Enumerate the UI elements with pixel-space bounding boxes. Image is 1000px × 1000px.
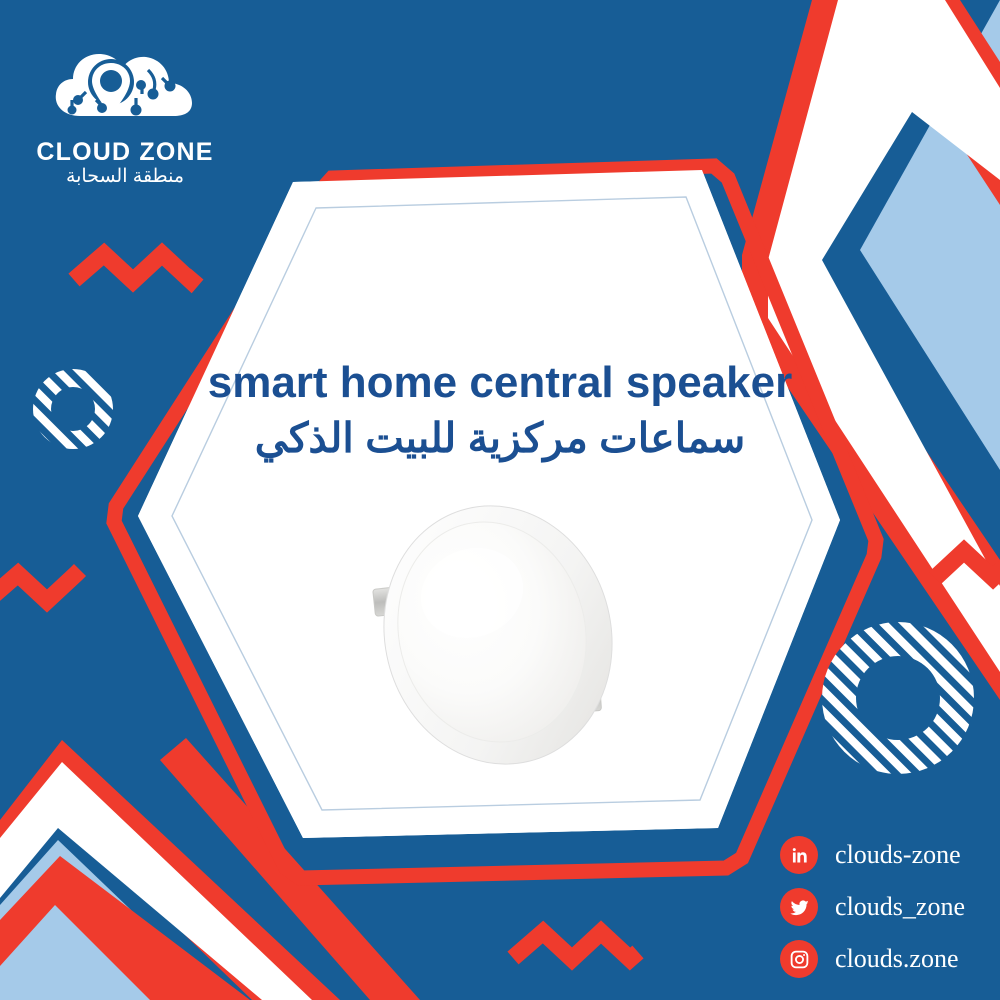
logo-arabic-subtitle: منطقة السحابة	[30, 166, 220, 188]
headline-english: smart home central speaker	[150, 358, 850, 407]
twitter-handle: clouds_zone	[835, 894, 965, 920]
instagram-icon[interactable]	[780, 940, 818, 978]
product-image	[368, 495, 638, 775]
social-row-twitter[interactable]: clouds_zone	[780, 888, 965, 926]
twitter-icon[interactable]	[780, 888, 818, 926]
linkedin-handle: clouds-zone	[835, 842, 961, 868]
social-links: clouds-zone clouds_zone clouds.zone	[780, 836, 965, 978]
brand-logo: CLOUD ZONE منطقة السحابة	[30, 38, 220, 188]
social-row-linkedin[interactable]: clouds-zone	[780, 836, 965, 874]
social-row-instagram[interactable]: clouds.zone	[780, 940, 965, 978]
linkedin-icon[interactable]	[780, 836, 818, 874]
round-led-panel-light-icon	[368, 495, 638, 775]
instagram-handle: clouds.zone	[835, 946, 958, 972]
cloud-pin-circuit-icon	[50, 38, 200, 133]
headline-arabic: سماعات مركزية للبيت الذكي	[150, 413, 850, 464]
logo-wordmark: CLOUD ZONE	[30, 139, 220, 165]
headline: smart home central speaker سماعات مركزية…	[150, 358, 850, 465]
poster-canvas: CLOUD ZONE منطقة السحابة smart home cent…	[0, 0, 1000, 1000]
